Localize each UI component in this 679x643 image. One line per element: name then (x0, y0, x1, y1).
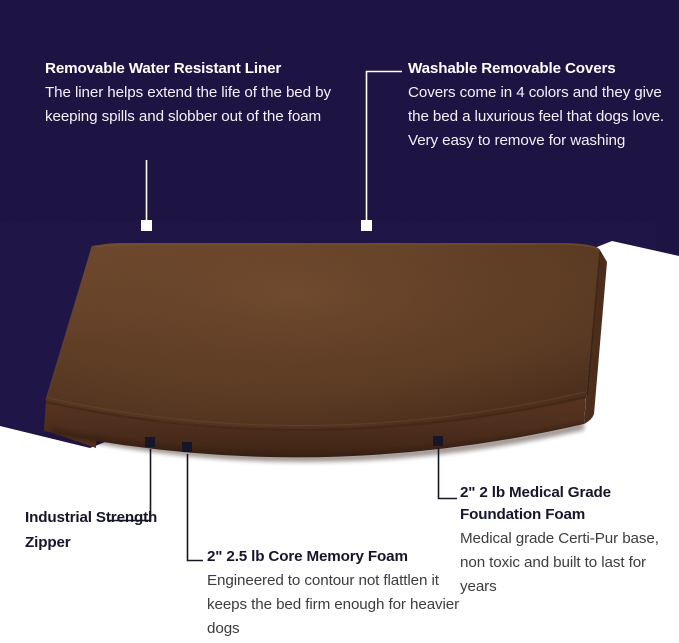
marker-covers (361, 220, 372, 231)
callout-title: 2" 2.5 lb Core Memory Foam (207, 546, 477, 568)
callout-title: Removable Water Resistant Liner (45, 58, 335, 80)
callout-core-memory-foam: 2" 2.5 lb Core Memory Foam Engineered to… (207, 546, 477, 641)
callout-title: 2" 2 lb Medical Grade Foundation Foam (460, 482, 679, 526)
marker-core-foam (182, 442, 192, 452)
callout-body: The liner helps extend the life of the b… (45, 81, 335, 129)
callout-industrial-strength-zipper: Industrial Strength Zipper (25, 505, 205, 556)
callout-removable-water-resistant-liner: Removable Water Resistant Liner The line… (45, 58, 335, 129)
marker-liner (141, 220, 152, 231)
callout-body: Engineered to contour not flattlen it ke… (207, 569, 477, 641)
callout-body: Covers come in 4 colors and they give th… (408, 81, 676, 153)
callout-medical-grade-foundation-foam: 2" 2 lb Medical Grade Foundation Foam Me… (460, 482, 679, 599)
infographic-canvas: Removable Water Resistant Liner The line… (0, 0, 679, 643)
callout-body: Medical grade Certi-Pur base, non toxic … (460, 527, 679, 599)
marker-zipper (145, 437, 155, 447)
callout-title: Washable Removable Covers (408, 58, 676, 80)
callout-title: Industrial Strength Zipper (25, 505, 205, 555)
callout-washable-removable-covers: Washable Removable Covers Covers come in… (408, 58, 676, 153)
marker-foundation-foam (433, 436, 443, 446)
